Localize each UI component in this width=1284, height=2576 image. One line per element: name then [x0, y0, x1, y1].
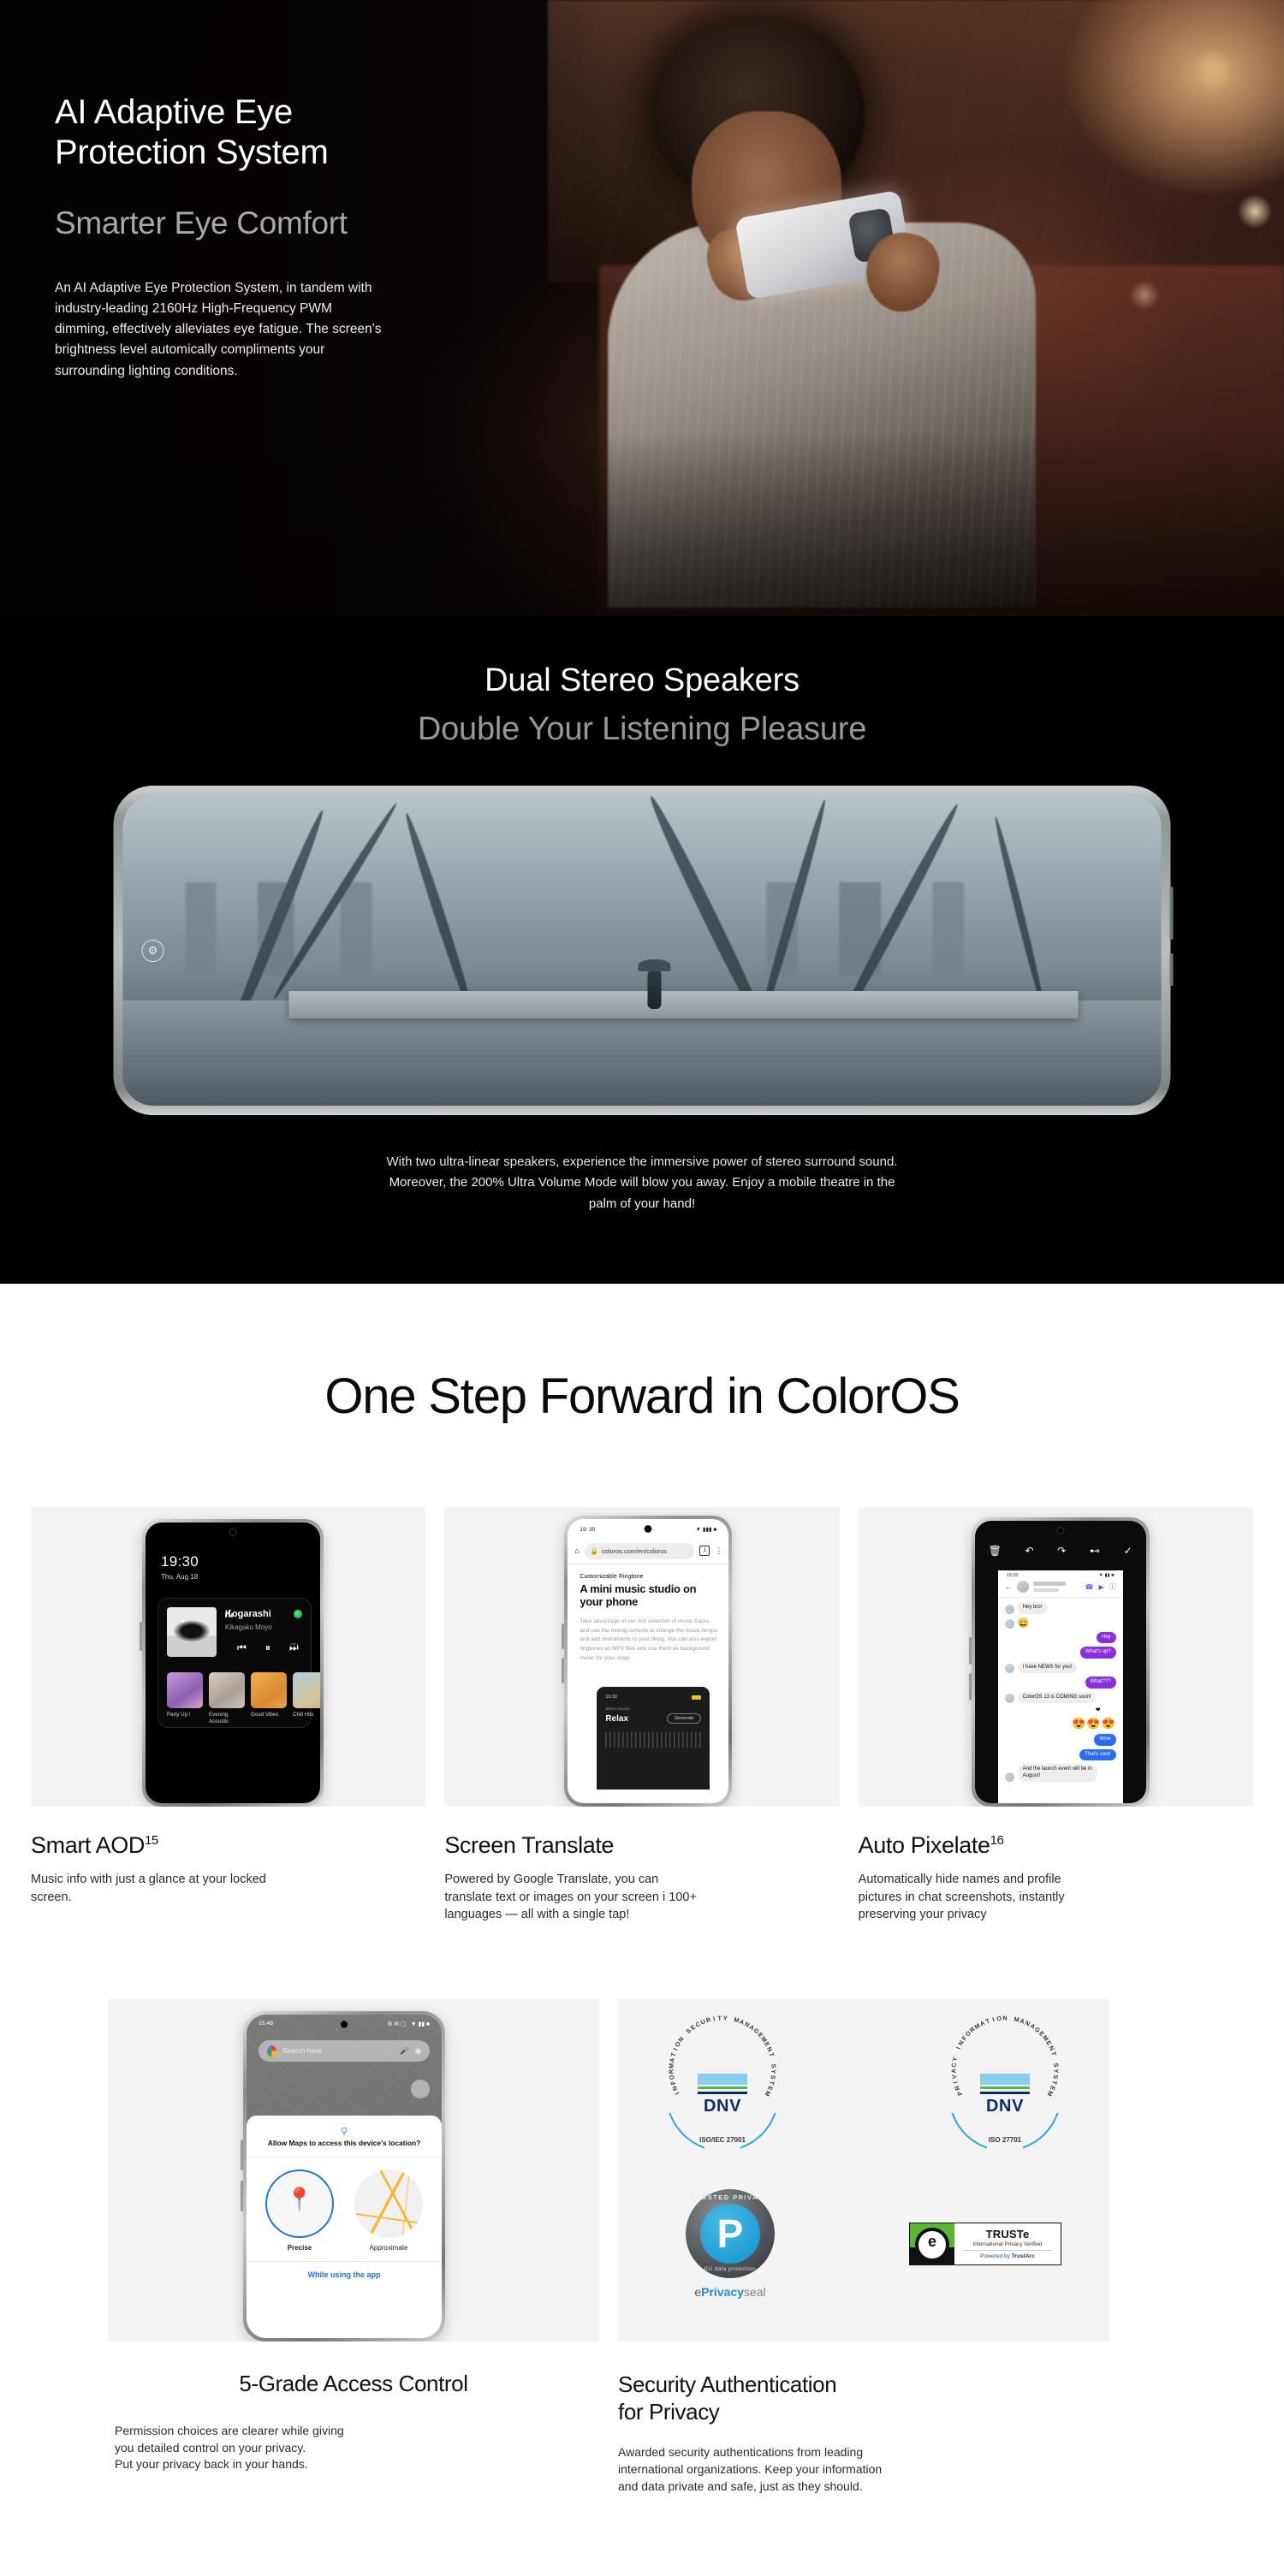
phone-side-button[interactable] — [969, 1637, 972, 1665]
eprivacyseal-wordmark: ePrivacyseal — [666, 2285, 794, 2299]
call-icon[interactable]: ☎ — [1085, 1583, 1094, 1591]
battery-icon — [692, 1695, 701, 1700]
audio-subheading: Double Your Listening Pleasure — [0, 711, 1284, 748]
overflow-menu-icon[interactable]: ⋮ — [715, 1546, 722, 1556]
chat-bubble: ColorOS 13 is COMING soon! — [1018, 1692, 1097, 1704]
phone-side-button[interactable] — [241, 2140, 243, 2170]
pause-icon[interactable]: ⏸ — [265, 1641, 270, 1654]
screen-translate-phone-screen: 19: 30 ▼ ▮▮▮ ■ ⌂ 🔒 coloros.com/en/coloro… — [568, 1519, 728, 1803]
security-badges-media: INFORMATION SECURITY MANAGEMENT SYSTEM D… — [618, 1999, 1109, 2342]
video-call-icon[interactable]: ▶ — [1099, 1583, 1104, 1591]
badge-dnv-iso-27701: PRIVACY INFORMATION MANAGEMENT SYSTEM DN… — [948, 2039, 1061, 2152]
badge-center: DNV — [698, 2074, 747, 2116]
dnv-wordmark: DNV — [980, 2097, 1030, 2116]
playlist-item[interactable]: Good Vibes — [251, 1672, 287, 1725]
option-label: Precise — [263, 2244, 336, 2252]
page-headline: A mini music studio on your phone — [580, 1582, 720, 1609]
smart-aod-phone-screen: 19:30 Thu, Aug 18 Kogarashi Kikagaku Moy… — [146, 1522, 320, 1803]
address-field[interactable]: 🔒 coloros.com/en/coloros — [585, 1543, 695, 1559]
waveform-visual — [605, 1732, 701, 1748]
maps-phone-screen: 15:48 ⚙ ✉ ▢ ▼ ▮▮ ■ Search here 🎤 ◉ — [247, 2015, 442, 2338]
chat-message-list: Hey bro! 😄 Hey — [998, 1598, 1123, 1786]
eprivacy-label-seal: seal — [744, 2285, 766, 2299]
card-title-screen-translate: Screen Translate — [444, 1832, 839, 1859]
account-avatar-icon[interactable]: ◉ — [415, 2046, 421, 2055]
audio-heading: Dual Stereo Speakers — [0, 616, 1284, 699]
chat-message-row: That's cool! — [1005, 1749, 1116, 1761]
search-placeholder: Search here — [282, 2046, 322, 2055]
contact-name-pixelated — [1033, 1582, 1066, 1586]
coloros-title: One Step Forward in ColorOS — [0, 1368, 1284, 1425]
product-landing-page: AI Adaptive Eye Protection System Smarte… — [0, 0, 1284, 2555]
microphone-icon[interactable]: 🎤 — [400, 2046, 408, 2056]
status-indicators: ▼ ▮▮▮ ■ — [696, 1526, 717, 1533]
chat-bubble: Wow — [1094, 1734, 1115, 1746]
divider — [963, 2250, 1052, 2251]
redo-icon[interactable]: ↷ — [1057, 1545, 1066, 1557]
truste-powered-by: Powered by TrustArc — [960, 2253, 1055, 2259]
chat-bubble: I have NEWS for you! — [1018, 1662, 1078, 1674]
eprivacy-top-text: TRUSTED PRIVACY — [686, 2193, 775, 2201]
option-label: Approximate — [352, 2244, 425, 2252]
chat-message-row: Hey — [1005, 1632, 1116, 1644]
divider — [568, 1564, 728, 1564]
while-using-the-app-button[interactable]: While using the app — [247, 2261, 442, 2288]
phone-side-button[interactable] — [969, 1673, 972, 1701]
chat-message-row: What??? — [1005, 1677, 1116, 1689]
chat-header-actions: ☎ ▶ ⓘ — [1085, 1582, 1116, 1592]
browser-url-bar: ⌂ 🔒 coloros.com/en/coloros 1 ⋮ — [574, 1541, 722, 1560]
chat-emoji: 😄 — [1018, 1617, 1030, 1629]
eye-protection-heading: AI Adaptive Eye Protection System — [55, 92, 586, 173]
auto-pixelate-phone-mockup: 🗑 ↶ ↷ ⊷ ✓ 19:30 ▼ ▮▮ ■ — [972, 1517, 1150, 1807]
spotify-icon[interactable] — [294, 1610, 302, 1618]
truste-title: TRUSTe — [960, 2228, 1055, 2241]
coloros-section: One Step Forward in ColorOS 19:30 Thu, A… — [0, 1284, 1284, 2555]
back-icon[interactable]: ← — [1005, 1582, 1013, 1591]
url-text: coloros.com/en/coloros — [602, 1547, 667, 1555]
option-approximate[interactable]: Approximate — [352, 2169, 425, 2252]
eye-protection-subheading: Smarter Eye Comfort — [55, 205, 586, 242]
landscape-phone-screen: ⚙ — [123, 795, 1162, 1106]
track-artist: Kikagaku Moyo — [225, 1623, 272, 1631]
share-icon[interactable]: ⊷ — [1090, 1545, 1100, 1557]
music-widget[interactable]: Kogarashi Kikagaku Moyo ⏮ ⏸ ⏭ ♡ — [158, 1598, 312, 1728]
card-desc-screen-translate: Powered by Google Translate, you can tra… — [444, 1871, 839, 1924]
map-layers-icon[interactable] — [411, 2080, 430, 2098]
camera-punch-hole-icon — [1056, 1527, 1064, 1534]
game-scene-artwork — [123, 795, 1162, 1106]
chat-bubble: And the launch event will be in August! — [1018, 1764, 1098, 1782]
phone-volume-button[interactable] — [1170, 887, 1174, 940]
playlist-item[interactable]: Chill Hits — [293, 1672, 320, 1725]
eprivacy-seal-graphic: TRUSTED PRIVACY EU data protection — [686, 2189, 775, 2278]
landscape-phone-mockup: ⚙ — [114, 786, 1171, 1115]
badge-row-privacy: TRUSTED PRIVACY EU data protection ePriv… — [666, 2189, 1061, 2299]
chat-message-row: What's up? — [1005, 1647, 1116, 1659]
status-time: 15:48 — [259, 2021, 273, 2027]
eprivacy-label-privacy: Privacy — [701, 2285, 744, 2299]
dual-stereo-speakers-section: Dual Stereo Speakers Double Your Listeni… — [0, 616, 1284, 1284]
previous-track-icon[interactable]: ⏮ — [237, 1641, 247, 1654]
badge-eprivacyseal: TRUSTED PRIVACY EU data protection ePriv… — [666, 2189, 794, 2299]
phone-power-button[interactable] — [1170, 953, 1174, 986]
footnote-marker: 15 — [145, 1833, 158, 1848]
inline-device-preview: 19:30 Select sound : Relax Generate — [597, 1687, 710, 1790]
screen-translate-media: 19: 30 ▼ ▮▮▮ ■ ⌂ 🔒 coloros.com/en/coloro… — [444, 1507, 839, 1807]
truste-text-block: TRUSTe International Privacy Verified Po… — [954, 2223, 1061, 2264]
card-desc-access-control: Permission choices are clearer while giv… — [108, 2423, 599, 2474]
chat-message-row: Wow — [1005, 1734, 1116, 1746]
badge-truste: TRUSTe International Privacy Verified Po… — [909, 2223, 1061, 2265]
playlist-thumbnail — [251, 1672, 287, 1708]
playlist-item[interactable]: Evening Acoustic — [209, 1672, 245, 1725]
playlist-label: Party Up ! — [167, 1712, 203, 1718]
page-eyebrow: Customizable Ringtone — [580, 1572, 643, 1580]
phone-side-button[interactable] — [140, 1622, 142, 1651]
sender-avatar-pixelated — [1005, 1694, 1014, 1703]
chat-message-row: 😍😍😍 — [1005, 1717, 1116, 1730]
chat-bubble: What's up? — [1080, 1647, 1116, 1659]
sound-name: Relax — [605, 1714, 628, 1724]
footnote-marker: 16 — [990, 1833, 1004, 1848]
truste-logo-mark — [910, 2223, 954, 2264]
permission-options: 📍 Precise Approximate — [247, 2158, 442, 2252]
contact-info — [1033, 1582, 1066, 1591]
home-icon[interactable]: ⌂ — [574, 1546, 579, 1555]
chat-bubble: That's cool! — [1079, 1749, 1116, 1761]
security-badge-grid: INFORMATION SECURITY MANAGEMENT SYSTEM D… — [618, 1999, 1109, 2342]
smart-aod-phone-mockup: 19:30 Thu, Aug 18 Kogarashi Kikagaku Moy… — [142, 1519, 324, 1807]
chat-status-icons: ▼ ▮▮ ■ — [1098, 1573, 1114, 1578]
lockscreen-date: Thu, Aug 18 — [161, 1573, 198, 1581]
audio-body: With two ultra-linear speakers, experien… — [300, 1152, 984, 1214]
status-bar: 15:48 ⚙ ✉ ▢ ▼ ▮▮ ■ — [247, 2021, 442, 2027]
dnv-wordmark: DNV — [698, 2097, 747, 2116]
powered-by-label: Powered by — [980, 2253, 1012, 2259]
playlist-item[interactable]: Party Up ! — [167, 1672, 203, 1725]
undo-icon[interactable]: ↶ — [1025, 1545, 1034, 1557]
eye-protection-copy: AI Adaptive Eye Protection System Smarte… — [55, 92, 586, 382]
album-cover-art — [167, 1607, 217, 1657]
auto-pixelate-phone-screen: 🗑 ↶ ↷ ⊷ ✓ 19:30 ▼ ▮▮ ■ — [975, 1521, 1146, 1803]
status-time: 19: 30 — [580, 1527, 595, 1533]
feature-cards-row-top: 19:30 Thu, Aug 18 Kogarashi Kikagaku Moy… — [0, 1507, 1284, 1924]
truste-subtitle: International Privacy Verified — [960, 2241, 1055, 2247]
game-water-reflection — [123, 1000, 1162, 1106]
favorite-heart-icon[interactable]: ♡ — [289, 1641, 299, 1653]
approximate-map-thumbnail — [354, 2169, 423, 2238]
game-menu-icon[interactable]: ⚙ — [142, 940, 164, 962]
eye-protection-body: An AI Adaptive Eye Protection System, in… — [55, 278, 474, 382]
card-desc-auto-pixelate: Automatically hide names and profile pic… — [859, 1871, 1253, 1924]
feature-card-screen-translate: 19: 30 ▼ ▮▮▮ ■ ⌂ 🔒 coloros.com/en/coloro… — [444, 1507, 839, 1924]
badge-standard-label: ISO 27701 — [989, 2136, 1021, 2144]
auto-pixelate-media: 🗑 ↶ ↷ ⊷ ✓ 19:30 ▼ ▮▮ ■ — [859, 1507, 1253, 1807]
tab-count-icon[interactable]: 1 — [699, 1546, 710, 1556]
delete-icon[interactable]: 🗑 — [989, 1545, 1002, 1557]
permission-dialog-title: Allow Maps to access this device's locat… — [260, 2139, 428, 2148]
badge-row-iso: INFORMATION SECURITY MANAGEMENT SYSTEM D… — [666, 2039, 1061, 2152]
card-title-smart-aod: Smart AOD15 — [31, 1832, 425, 1859]
chat-bubble: Hey bro! — [1018, 1602, 1048, 1614]
sender-avatar-pixelated — [1005, 1664, 1014, 1673]
badge-standard-label: ISO/IEC 27001 — [699, 2136, 746, 2144]
chat-emoji: 😍😍😍 — [1072, 1717, 1116, 1730]
screen-translate-phone-mockup: 19: 30 ▼ ▮▮▮ ■ ⌂ 🔒 coloros.com/en/coloro… — [564, 1516, 732, 1807]
card-title-auto-pixelate: Auto Pixelate16 — [859, 1832, 1253, 1859]
sender-avatar-pixelated — [1005, 1605, 1014, 1614]
playlist-label: Chill Hits — [293, 1712, 320, 1718]
status-indicators: ⚙ ✉ ▢ ▼ ▮▮ ■ — [387, 2021, 430, 2027]
dnv-logo-bars — [980, 2074, 1030, 2094]
contact-status-pixelated — [1033, 1588, 1059, 1592]
dnv-logo-bars — [698, 2074, 747, 2094]
audio-stage: ⚙ — [0, 763, 1284, 1123]
select-sound-label: Select sound : — [605, 1707, 701, 1712]
page-paragraph: Take advantage of our rich selection of … — [580, 1617, 718, 1663]
card-desc-security-authentication: Awarded security authentications from le… — [618, 2444, 1109, 2496]
feature-cards-row-bottom: 15:48 ⚙ ✉ ▢ ▼ ▮▮ ■ Search here 🎤 ◉ — [0, 1999, 1284, 2496]
playlist-label: Good Vibes — [251, 1712, 287, 1718]
phone-side-button[interactable] — [241, 2181, 243, 2211]
chat-header: ← ☎ ▶ ⓘ — [998, 1578, 1123, 1598]
lockscreen-time: 19:30 — [161, 1553, 199, 1570]
chat-status-bar: 19:30 ▼ ▮▮ ■ — [998, 1570, 1123, 1578]
generate-button[interactable]: Generate — [667, 1713, 701, 1724]
location-pin-icon: ⚲ — [247, 2126, 442, 2137]
playlist-thumbnail — [293, 1672, 320, 1708]
card-title-security-authentication: Security Authentication for Privacy — [618, 2371, 1109, 2425]
map-marker-icon: 📍 — [286, 2187, 313, 2213]
contact-avatar-pixelated — [1017, 1581, 1029, 1593]
eye-protection-section: AI Adaptive Eye Protection System Smarte… — [0, 0, 1284, 616]
playlist-label: Evening Acoustic — [209, 1712, 245, 1725]
status-bar: 19: 30 ▼ ▮▮▮ ■ — [568, 1523, 728, 1535]
chat-bubble: Hey — [1097, 1632, 1116, 1644]
option-precise[interactable]: 📍 Precise — [263, 2169, 336, 2252]
trustarc-brand: TrustArc — [1012, 2253, 1035, 2259]
playlist-tiles: Party Up ! Evening Acoustic Good Vibes — [167, 1672, 304, 1725]
eprivacy-bottom-text: EU data protection — [686, 2266, 775, 2272]
phone-side-button[interactable] — [562, 1623, 564, 1649]
chat-message-row: I have NEWS for you! — [1005, 1662, 1116, 1674]
phone-side-button[interactable] — [562, 1658, 564, 1683]
maps-phone-mockup: 15:48 ⚙ ✉ ▢ ▼ ▮▮ ■ Search here 🎤 ◉ — [243, 2011, 445, 2342]
card-desc-smart-aod: Music info with just a glance at your lo… — [31, 1871, 425, 1906]
lock-icon: 🔒 — [591, 1547, 598, 1555]
info-icon[interactable]: ⓘ — [1109, 1582, 1116, 1592]
screenshot-editor-toolbar: 🗑 ↶ ↷ ⊷ ✓ — [975, 1540, 1146, 1562]
feature-card-smart-aod: 19:30 Thu, Aug 18 Kogarashi Kikagaku Moy… — [31, 1507, 425, 1906]
chat-screenshot: 19:30 ▼ ▮▮ ■ ← — [998, 1570, 1123, 1803]
permission-dialog: ⚲ Allow Maps to access this device's loc… — [247, 2116, 442, 2338]
chat-reaction-heart: ❤ — [1005, 1706, 1116, 1713]
google-maps-icon — [267, 2045, 276, 2057]
chat-message-row: ColorOS 13 is COMING soon! — [1005, 1692, 1116, 1704]
playlist-thumbnail — [209, 1672, 245, 1708]
sender-avatar-pixelated — [1005, 1619, 1014, 1629]
chat-message-row: And the launch event will be in August! — [1005, 1764, 1116, 1782]
feature-card-access-control: 15:48 ⚙ ✉ ▢ ▼ ▮▮ ■ Search here 🎤 ◉ — [108, 1999, 599, 2474]
badge-center: DNV — [980, 2074, 1030, 2116]
chat-status-time: 19:30 — [1007, 1573, 1019, 1578]
precise-map-thumbnail: 📍 — [265, 2169, 334, 2238]
inner-status-time: 19:30 — [605, 1695, 617, 1700]
inner-status-bar: 19:30 — [605, 1695, 701, 1700]
playlist-thumbnail — [167, 1672, 203, 1708]
card-title-access-control: 5-Grade Access Control — [108, 2371, 599, 2397]
access-control-media: 15:48 ⚙ ✉ ▢ ▼ ▮▮ ■ Search here 🎤 ◉ — [108, 1999, 599, 2342]
chat-message-row: Hey bro! — [1005, 1602, 1116, 1614]
badge-dnv-iso-27001: INFORMATION SECURITY MANAGEMENT SYSTEM D… — [666, 2039, 779, 2152]
chat-message-row: 😄 — [1005, 1617, 1116, 1629]
eprivacy-label-e: e — [694, 2285, 701, 2299]
sound-row: Relax Generate — [605, 1713, 701, 1724]
check-icon[interactable]: ✓ — [1124, 1545, 1132, 1557]
track-title: Kogarashi — [225, 1609, 271, 1619]
map-search-bar[interactable]: Search here 🎤 ◉ — [259, 2040, 430, 2062]
smart-aod-media: 19:30 Thu, Aug 18 Kogarashi Kikagaku Moy… — [31, 1507, 425, 1807]
sender-avatar-pixelated — [1005, 1772, 1014, 1782]
chat-bubble: What??? — [1085, 1677, 1116, 1689]
feature-card-auto-pixelate: 🗑 ↶ ↷ ⊷ ✓ 19:30 ▼ ▮▮ ■ — [859, 1507, 1253, 1924]
feature-card-security-authentication: INFORMATION SECURITY MANAGEMENT SYSTEM D… — [618, 1999, 1109, 2496]
camera-punch-hole-icon — [229, 1528, 237, 1536]
